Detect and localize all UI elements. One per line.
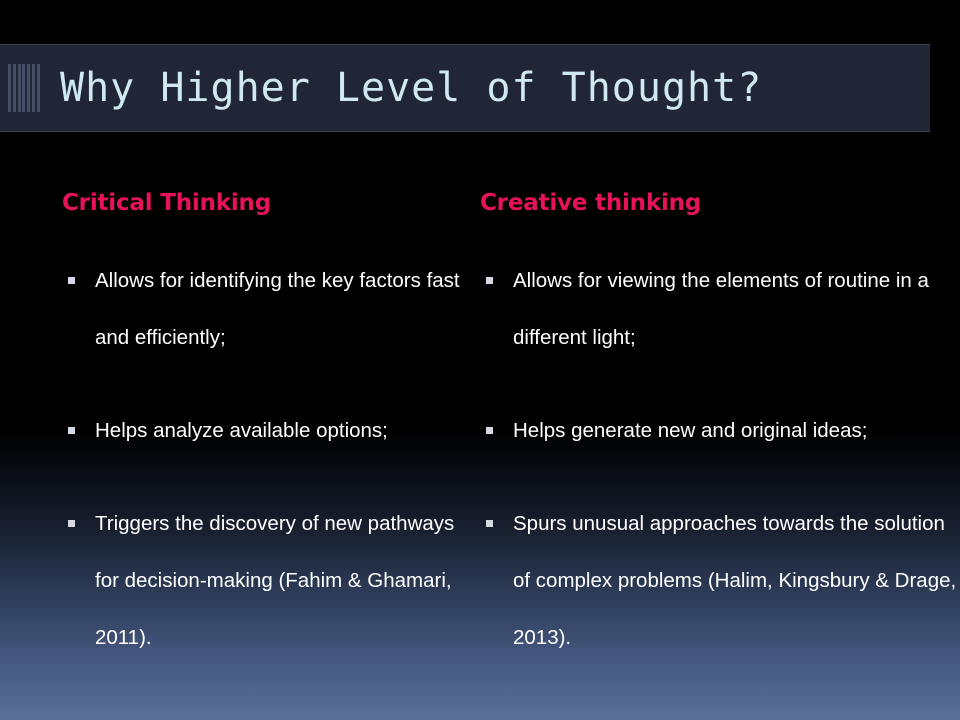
list-item: Helps analyze available options; bbox=[62, 402, 470, 459]
column-critical-thinking: Critical Thinking Allows for identifying… bbox=[0, 190, 470, 702]
page-title: Why Higher Level of Thought? bbox=[60, 65, 930, 111]
list-item: Allows for identifying the key factors f… bbox=[62, 252, 470, 366]
list-item: Triggers the discovery of new pathways f… bbox=[62, 495, 470, 666]
title-bar: Why Higher Level of Thought? bbox=[0, 44, 930, 132]
square-bullet-icon bbox=[68, 277, 75, 284]
bullet-list-critical: Allows for identifying the key factors f… bbox=[62, 252, 470, 666]
list-item: Allows for viewing the elements of routi… bbox=[480, 252, 960, 366]
column-heading-critical: Critical Thinking bbox=[62, 190, 470, 216]
list-item-text: Helps analyze available options; bbox=[95, 402, 470, 459]
column-heading-creative: Creative thinking bbox=[480, 190, 960, 216]
square-bullet-icon bbox=[486, 520, 493, 527]
content-columns: Critical Thinking Allows for identifying… bbox=[0, 190, 960, 702]
list-item-text: Helps generate new and original ideas; bbox=[513, 402, 960, 459]
square-bullet-icon bbox=[486, 427, 493, 434]
list-item-text: Triggers the discovery of new pathways f… bbox=[95, 495, 470, 666]
square-bullet-icon bbox=[486, 277, 493, 284]
bullet-list-creative: Allows for viewing the elements of routi… bbox=[480, 252, 960, 666]
square-bullet-icon bbox=[68, 427, 75, 434]
list-item-text: Spurs unusual approaches towards the sol… bbox=[513, 495, 960, 666]
list-item-text: Allows for viewing the elements of routi… bbox=[513, 252, 960, 366]
vertical-bars-icon bbox=[8, 64, 40, 112]
square-bullet-icon bbox=[68, 520, 75, 527]
list-item-text: Allows for identifying the key factors f… bbox=[95, 252, 470, 366]
column-creative-thinking: Creative thinking Allows for viewing the… bbox=[470, 190, 960, 702]
slide: Why Higher Level of Thought? Critical Th… bbox=[0, 0, 960, 720]
list-item: Spurs unusual approaches towards the sol… bbox=[480, 495, 960, 666]
list-item: Helps generate new and original ideas; bbox=[480, 402, 960, 459]
